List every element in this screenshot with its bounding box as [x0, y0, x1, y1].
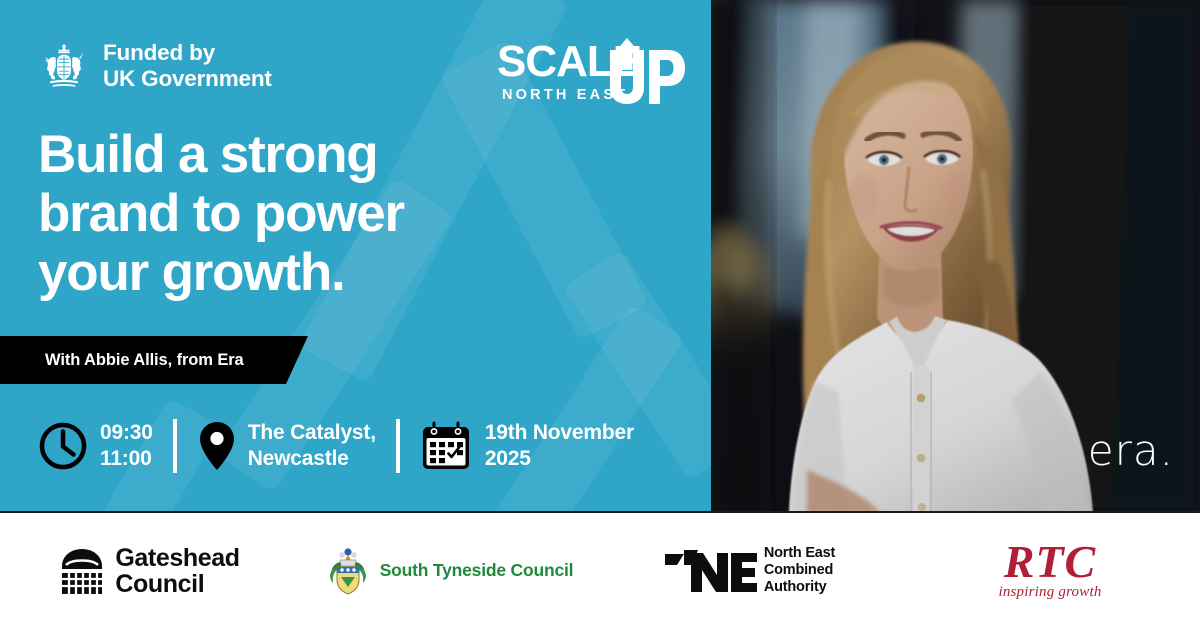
neca-label: North East Combined Authority — [764, 545, 835, 595]
speaker-photo: era. — [711, 0, 1200, 513]
funded-by-label: Funded by UK Government — [103, 40, 272, 93]
ne-monogram-icon — [665, 549, 757, 593]
event-location-label: The Catalyst, Newcastle — [248, 420, 376, 473]
event-date: 19th November 2025 — [420, 420, 634, 473]
scaleup-north-east-text: NORTH EAST — [502, 87, 628, 103]
clock-icon — [38, 421, 88, 471]
event-details-row: 09:30 11:00 The Catalyst, Newcastle — [38, 406, 634, 486]
calendar-icon — [420, 421, 472, 471]
detail-divider — [396, 419, 400, 473]
rtc-tagline: inspiring growth — [998, 584, 1101, 601]
partner-logo-footer: Gateshead Council — [0, 514, 1200, 627]
funded-by-uk-government-logo: Funded by UK Government — [38, 40, 272, 93]
event-time-label: 09:30 11:00 — [100, 420, 153, 473]
speaker-banner: With Abbie Allis, from Era — [0, 336, 308, 384]
page-title: Build a strong brand to power your growt… — [38, 126, 498, 302]
hero-logo-row: Funded by UK Government SCALE NORTH EAST — [0, 0, 711, 120]
event-location: The Catalyst, Newcastle — [197, 420, 376, 473]
partner-logo-rtc: RTC inspiring growth — [900, 540, 1200, 602]
partner-logo-neca: North East Combined Authority — [600, 545, 900, 595]
scaleup-north-east-logo: SCALE NORTH EAST — [497, 36, 687, 108]
rtc-wordmark: RTC — [998, 540, 1101, 584]
partner-logo-south-tyneside: South Tyneside Council — [300, 546, 600, 596]
gateshead-bridge-icon — [60, 547, 104, 595]
uk-royal-coat-of-arms-icon — [38, 40, 90, 92]
hero-section: Funded by UK Government SCALE NORTH EAST — [0, 0, 1200, 513]
south-tyneside-council-label: South Tyneside Council — [380, 560, 574, 581]
hero-teal-panel: Funded by UK Government SCALE NORTH EAST — [0, 0, 711, 513]
event-time: 09:30 11:00 — [38, 420, 153, 473]
south-tyneside-crest-icon — [327, 546, 369, 596]
gateshead-council-label: Gateshead Council — [115, 545, 239, 597]
speaker-label: With Abbie Allis, from Era — [0, 351, 244, 370]
era-brand-logo: era. — [1088, 426, 1174, 475]
hero-bottom-rule — [0, 511, 1200, 513]
event-date-label: 19th November 2025 — [485, 420, 634, 473]
partner-logo-gateshead: Gateshead Council — [0, 545, 300, 597]
detail-divider — [173, 419, 177, 473]
event-promo-poster: Funded by UK Government SCALE NORTH EAST — [0, 0, 1200, 627]
location-pin-icon — [197, 421, 237, 471]
